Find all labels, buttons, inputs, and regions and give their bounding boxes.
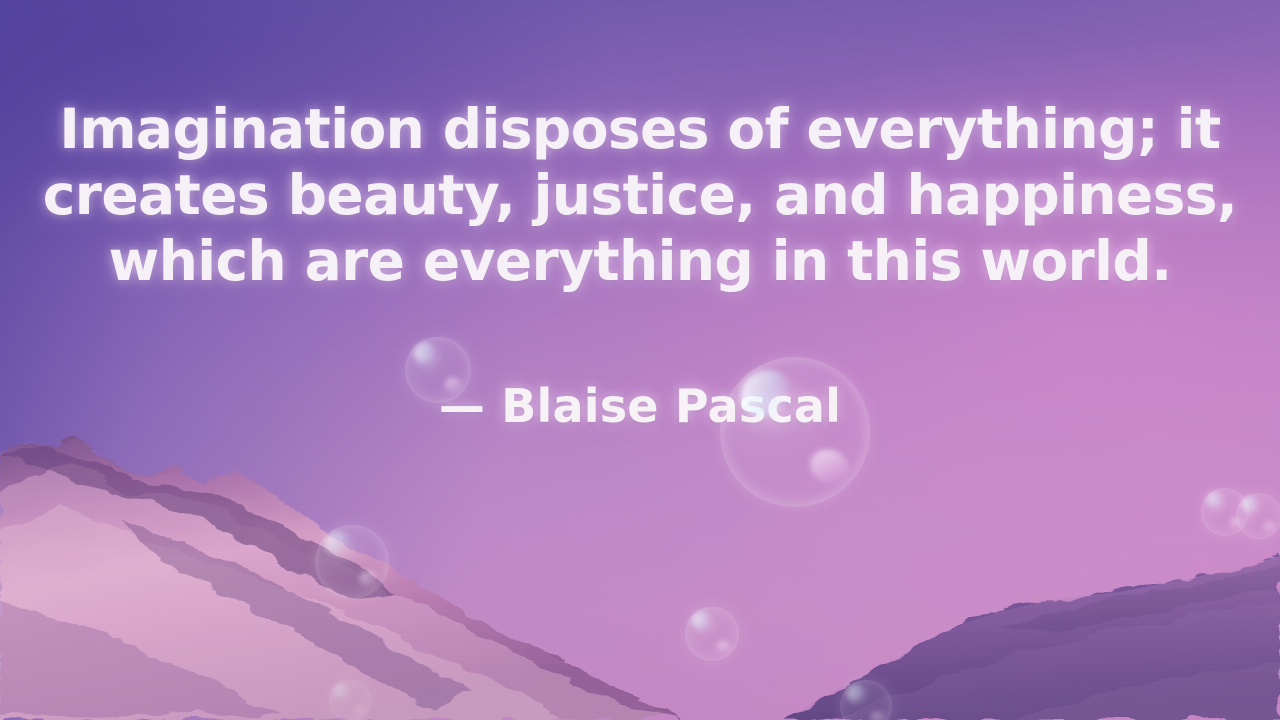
mountain-right [780, 540, 1280, 720]
mountain-left [0, 430, 710, 720]
mountain-silhouettes [0, 0, 1280, 720]
quote-card-canvas: Imagination disposes of everything; it c… [0, 0, 1280, 720]
mountain-range [0, 0, 1280, 720]
